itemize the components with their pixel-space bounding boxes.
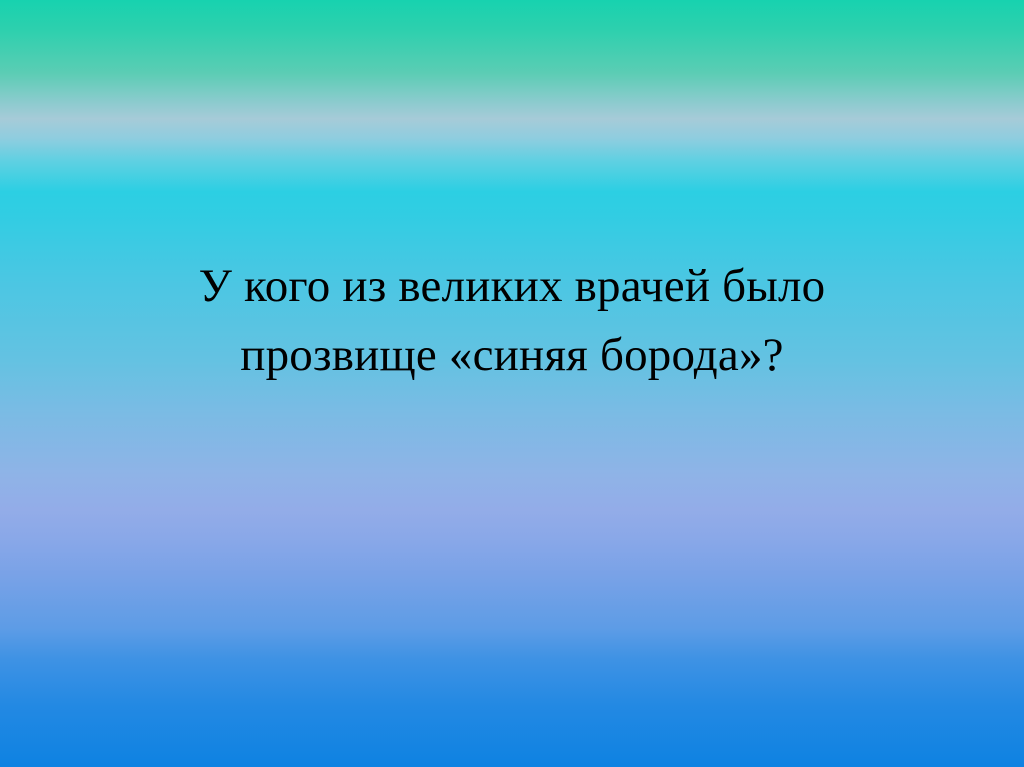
slide-canvas: У кого из великих врачей было прозвище «… bbox=[0, 0, 1024, 767]
question-line-1: У кого из великих врачей было bbox=[64, 252, 960, 321]
question-line-2: прозвище «синяя борода»? bbox=[64, 321, 960, 390]
question-text-block: У кого из великих врачей было прозвище «… bbox=[0, 252, 1024, 390]
